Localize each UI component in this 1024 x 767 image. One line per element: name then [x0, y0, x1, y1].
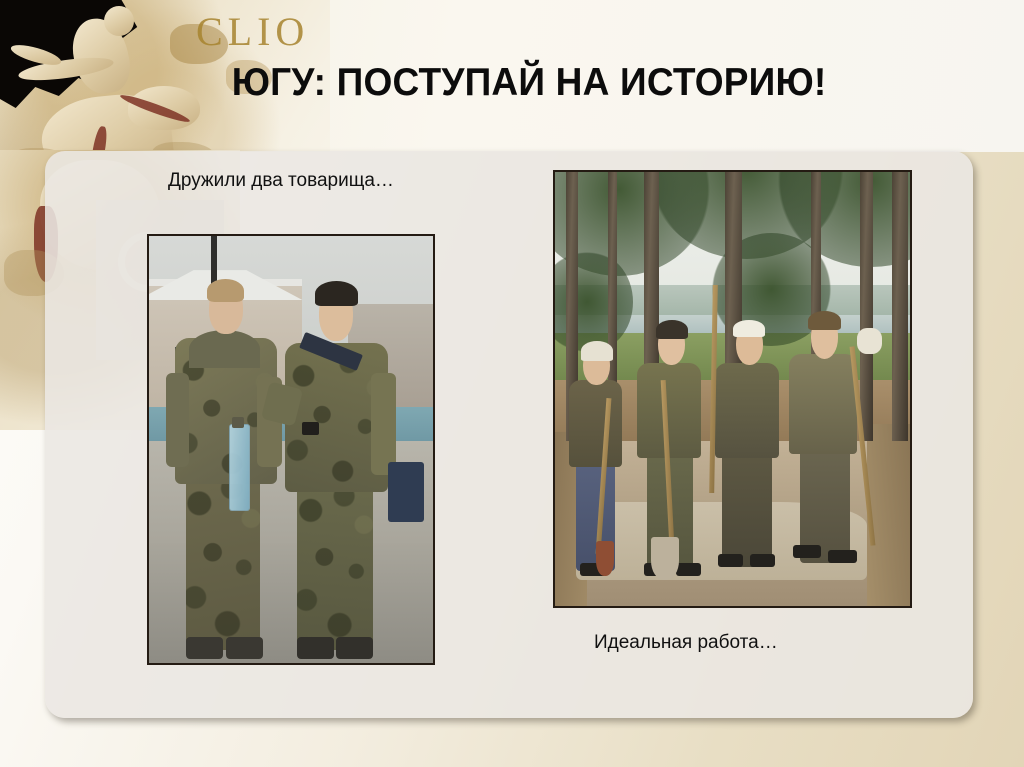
photo-left-bottle-cap	[232, 417, 244, 427]
photo-right-person-4-jacket	[789, 354, 856, 454]
caption-right-photo: Идеальная работа…	[594, 632, 778, 654]
photo-right-person-4-hair	[808, 311, 841, 331]
photo-right-person-2-shoe-right	[676, 563, 701, 576]
photo-left-soldier-b-arm-right	[371, 373, 397, 475]
photo-right-pine-trunk-7	[892, 172, 908, 441]
photo-right-glove	[857, 328, 882, 354]
photo-right-person-3-legs	[722, 441, 772, 567]
photo-right-person-3-jacket	[715, 363, 779, 458]
photo-left-soldier-b-shoe-right	[336, 637, 373, 658]
photo-right-shovel-blade-2	[651, 537, 679, 580]
photo-right-shovel-blade-1	[596, 541, 614, 576]
photo-right-trench-wall-right	[867, 424, 910, 606]
photo-left-soldier-a-arm-left	[166, 373, 189, 467]
photo-right-person-1-bandana	[581, 341, 613, 361]
photo-left-water-bottle	[229, 424, 251, 511]
photo-right-person-3-shoe-left	[718, 554, 743, 567]
photo-right-person-3-headband	[733, 320, 765, 337]
photo-left-soldier-a-hood	[189, 330, 260, 368]
photo-left-soldier-b-legs	[297, 471, 374, 650]
photo-left-soldier-b-shoe-left	[297, 637, 334, 658]
photo-left-soldier-a-shoe-right	[226, 637, 263, 658]
photo-left-soldier-a-hair	[207, 279, 244, 302]
camo-pattern	[297, 471, 374, 650]
photo-right-person-4-shoe-right	[828, 550, 856, 563]
photo-left-soldier-b-wristwatch	[302, 422, 319, 435]
presentation-slide: CLIO ЮГУ: ПОСТУПАЙ НА ИСТОРИЮ! Дружили д…	[0, 0, 1024, 767]
photo-right-person-3-shoe-right	[750, 554, 775, 567]
photo-right-person-1-jacket	[569, 380, 622, 467]
photo-right-person-2-hair	[656, 320, 688, 340]
photo-left-soldier-a-shoe-left	[186, 637, 223, 658]
photo-right-pine-trunk-6	[860, 172, 873, 441]
photo-archaeological-dig[interactable]	[553, 170, 912, 608]
caption-left-photo: Дружили два товарища…	[168, 170, 394, 192]
photo-right-person-4-shoe-left	[793, 545, 821, 558]
photo-two-soldiers[interactable]	[147, 234, 435, 665]
photo-left-soldier-b-hair	[315, 281, 358, 307]
photo-left-soldier-b-bag	[388, 462, 425, 522]
